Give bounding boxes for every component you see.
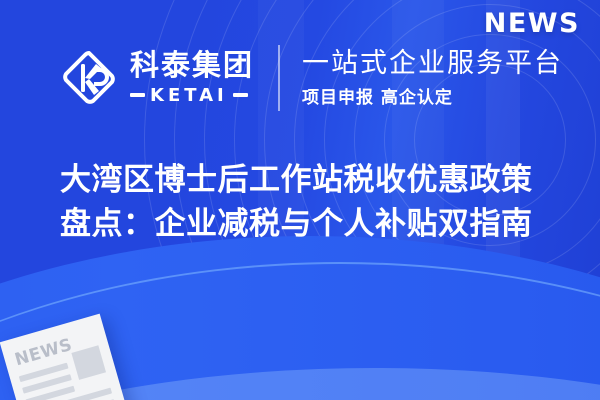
- news-badge: NEWS: [484, 8, 580, 39]
- brand-name-en: KETAI: [150, 85, 228, 106]
- headline-line-1: 大湾区博士后工作站税收优惠政策: [60, 158, 560, 202]
- headline-line-2: 盘点：企业减税与个人补贴双指南: [60, 202, 560, 246]
- brand-name-en-row: KETAI: [130, 85, 254, 106]
- slogan-sub: 项目申报 高企认定: [302, 83, 563, 108]
- slogan-block: 一站式企业服务平台 项目申报 高企认定: [302, 48, 563, 109]
- newspaper-image-placeholder: [71, 345, 106, 380]
- brand-wordmark: 科泰集团 KETAI: [130, 50, 254, 105]
- ketai-kp-diamond-logo-icon: [60, 49, 118, 107]
- news-banner: NEWS 科泰集团 KETAI: [0, 0, 600, 400]
- header-divider: [278, 45, 280, 111]
- dash-left-icon: [130, 93, 145, 97]
- slogan-main: 一站式企业服务平台: [302, 48, 563, 80]
- dash-right-icon: [233, 93, 248, 97]
- brand-name-cn: 科泰集团: [130, 50, 254, 80]
- headline-block: 大湾区博士后工作站税收优惠政策 盘点：企业减税与个人补贴双指南: [60, 158, 560, 246]
- banner-header: 科泰集团 KETAI 一站式企业服务平台 项目申报 高企认定: [60, 40, 563, 116]
